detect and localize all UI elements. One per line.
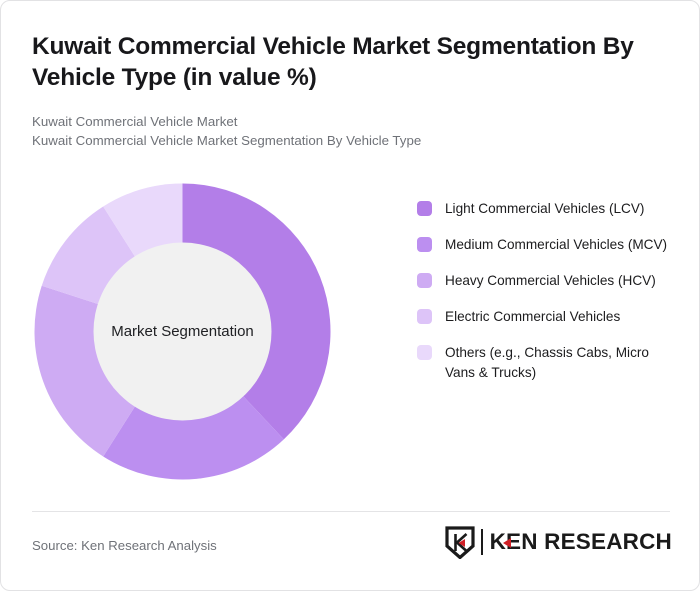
- legend-swatch-icon: [417, 201, 432, 216]
- legend-item[interactable]: Medium Commercial Vehicles (MCV): [417, 235, 679, 255]
- brand-logo: KEN RESEARCH: [445, 525, 672, 559]
- chart-card-inner: Kuwait Commercial Vehicle Market Segment…: [1, 1, 700, 591]
- chart-legend: Light Commercial Vehicles (LCV)Medium Co…: [417, 199, 679, 383]
- breadcrumb: Kuwait Commercial Vehicle Market Kuwait …: [32, 112, 652, 150]
- donut-center-hole: [94, 243, 272, 421]
- legend-swatch-icon: [417, 237, 432, 252]
- legend-item-label: Light Commercial Vehicles (LCV): [445, 199, 644, 219]
- legend-item[interactable]: Others (e.g., Chassis Cabs, Micro Vans &…: [417, 343, 679, 383]
- legend-swatch-icon: [417, 273, 432, 288]
- legend-item[interactable]: Electric Commercial Vehicles: [417, 307, 679, 327]
- legend-item-label: Others (e.g., Chassis Cabs, Micro Vans &…: [445, 343, 673, 383]
- legend-swatch-icon: [417, 345, 432, 360]
- legend-swatch-icon: [417, 309, 432, 324]
- legend-item-label: Heavy Commercial Vehicles (HCV): [445, 271, 656, 291]
- logo-wordmark-text: KEN RESEARCH: [490, 529, 672, 554]
- logo-wordmark: KEN RESEARCH: [490, 529, 672, 555]
- breadcrumb-level-1: Kuwait Commercial Vehicle Market: [32, 112, 652, 131]
- logo-red-triangle-icon: [503, 538, 511, 548]
- legend-item[interactable]: Light Commercial Vehicles (LCV): [417, 199, 679, 219]
- logo-wordmark-inner: KEN RESEARCH: [490, 529, 672, 554]
- source-note: Source: Ken Research Analysis: [32, 538, 217, 553]
- chart-area: Market Segmentation Light Commercial Veh…: [1, 166, 700, 501]
- footer-divider: [32, 511, 670, 512]
- logo-divider: [481, 529, 483, 555]
- ken-research-shield-icon: [445, 526, 475, 559]
- breadcrumb-level-2: Kuwait Commercial Vehicle Market Segment…: [32, 131, 652, 150]
- legend-item[interactable]: Heavy Commercial Vehicles (HCV): [417, 271, 679, 291]
- chart-card: Kuwait Commercial Vehicle Market Segment…: [0, 0, 700, 591]
- donut-chart-svg: [34, 183, 331, 480]
- legend-item-label: Electric Commercial Vehicles: [445, 307, 620, 327]
- page-title: Kuwait Commercial Vehicle Market Segment…: [32, 31, 662, 93]
- donut-chart: Market Segmentation: [34, 183, 331, 480]
- legend-item-label: Medium Commercial Vehicles (MCV): [445, 235, 667, 255]
